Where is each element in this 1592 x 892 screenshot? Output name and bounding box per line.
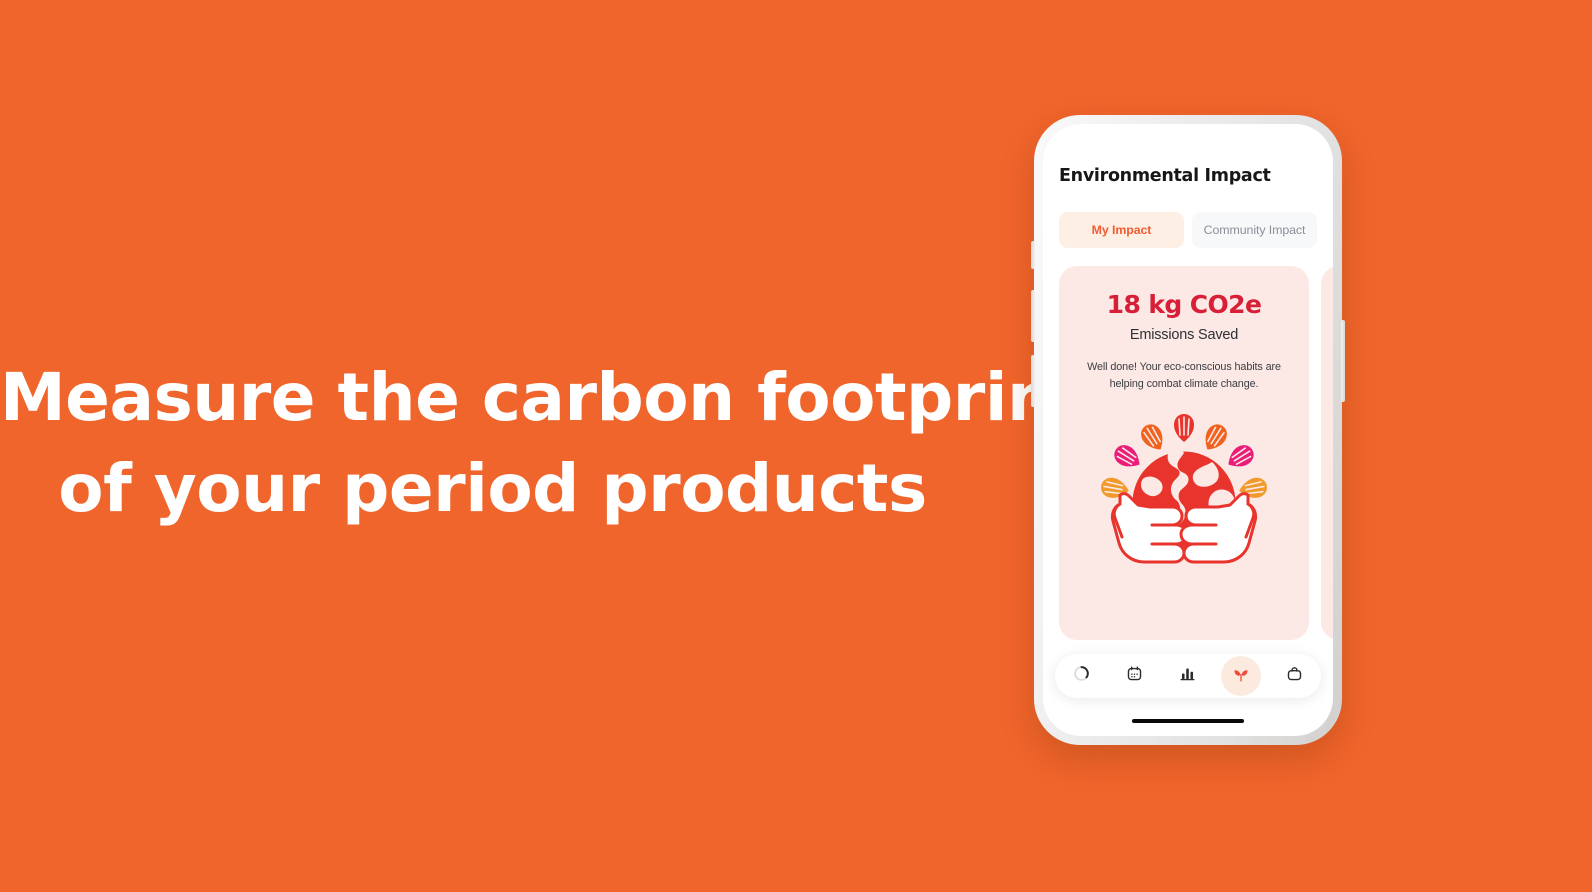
headline-line-2: of your period products — [0, 443, 985, 534]
impact-tabs: My Impact Community Impact — [1043, 212, 1333, 248]
hands-holding-earth-icon — [1075, 408, 1293, 568]
volume-up-button[interactable] — [1031, 290, 1035, 342]
metric-label: Emissions Saved — [1075, 327, 1293, 343]
nav-item-shop[interactable] — [1274, 656, 1314, 696]
tab-my-impact-label: My Impact — [1092, 223, 1152, 237]
page-headline: Measure the carbon footprint of your per… — [0, 352, 985, 534]
volume-down-button[interactable] — [1031, 355, 1035, 407]
home-indicator — [1132, 719, 1244, 724]
impact-card-emissions-saved[interactable]: 18 kg CO2e Emissions Saved Well done! Yo… — [1059, 266, 1309, 640]
tab-my-impact[interactable]: My Impact — [1059, 212, 1184, 248]
sprout-icon — [1232, 665, 1250, 688]
nav-item-calendar[interactable] — [1115, 656, 1155, 696]
bag-icon — [1286, 665, 1303, 687]
silent-switch-button[interactable] — [1031, 241, 1035, 269]
power-button[interactable] — [1341, 320, 1345, 402]
progress-ring-icon — [1073, 665, 1090, 687]
headline-line-1: Measure the carbon footprint — [0, 352, 985, 443]
nav-item-stats[interactable] — [1168, 656, 1208, 696]
phone-screen: Environmental Impact My Impact Community… — [1043, 124, 1333, 736]
tab-community-impact[interactable]: Community Impact — [1192, 212, 1317, 248]
nav-item-environmental-impact[interactable] — [1221, 656, 1261, 696]
phone-mockup: Environmental Impact My Impact Community… — [1034, 115, 1342, 745]
bar-chart-icon — [1179, 665, 1196, 687]
page-title: Environmental Impact — [1043, 166, 1333, 186]
impact-card-next-peek[interactable] — [1321, 266, 1333, 640]
metric-description: Well done! Your eco-conscious habits are… — [1075, 359, 1293, 392]
bottom-navigation — [1055, 654, 1321, 698]
calendar-icon — [1126, 665, 1143, 687]
impact-card-carousel[interactable]: 18 kg CO2e Emissions Saved Well done! Yo… — [1043, 266, 1333, 640]
metric-value: 18 kg CO2e — [1075, 292, 1293, 317]
tab-community-impact-label: Community Impact — [1204, 223, 1306, 237]
nav-item-cycle[interactable] — [1062, 656, 1102, 696]
